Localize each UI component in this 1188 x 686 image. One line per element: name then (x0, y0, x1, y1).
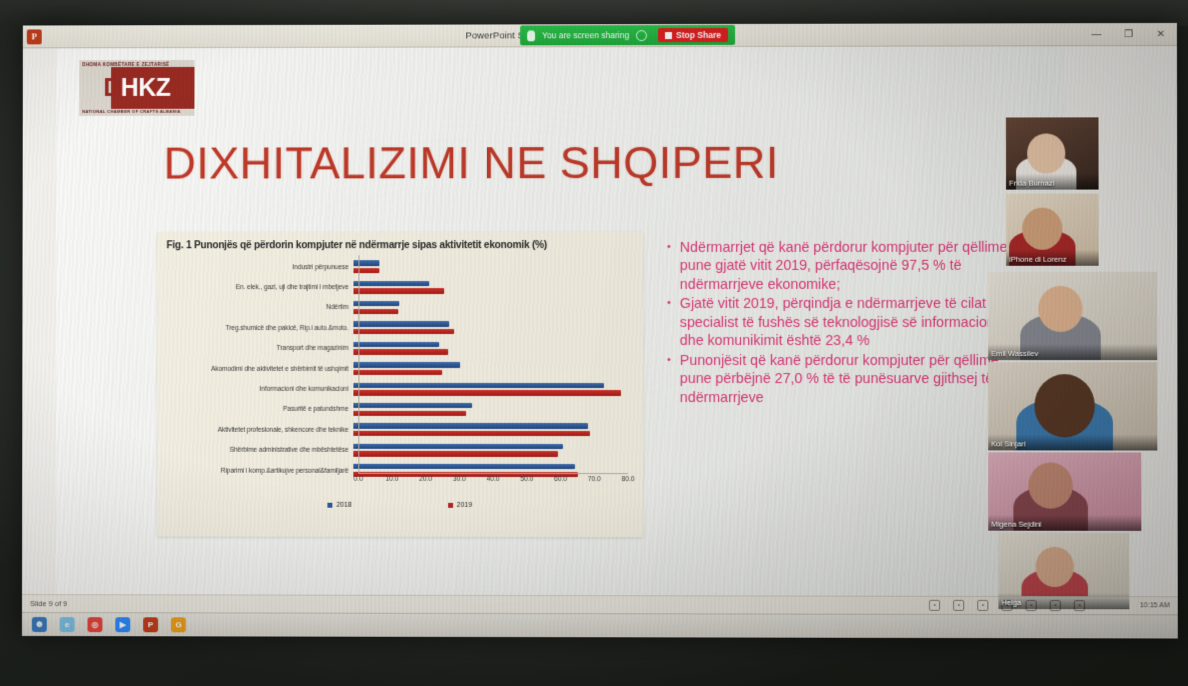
stop-share-button[interactable]: Stop Share (658, 28, 728, 42)
chart-category-label: En. elek., gazi, uji dhe trajtimi i mbet… (166, 284, 353, 291)
chart-bar-2019 (353, 349, 447, 354)
legend-item: 2019 (448, 502, 473, 509)
logo-letter-d: D (103, 74, 120, 102)
stop-square-icon (665, 32, 672, 39)
chart-x-tick: 50.0 (520, 476, 533, 483)
chart-category-label: Riparimi i komp.&artikujve personal&fami… (166, 467, 353, 474)
chart-bar-group (353, 381, 628, 398)
chart-bar-2018 (353, 281, 428, 286)
chart-x-tick: 10.0 (385, 476, 398, 483)
chart-bar-group (353, 279, 628, 296)
windows-taskbar: ☸e◎▶PG (22, 612, 1178, 638)
powerpoint-icon: P (27, 29, 42, 44)
participant-name: Helga (1001, 598, 1021, 607)
participant-name: Kol Sinjari (991, 439, 1025, 448)
legend-item: 2018 (327, 502, 352, 509)
chart-bar-2019 (353, 329, 454, 334)
bullet-dot-icon: • (667, 239, 671, 294)
slide-bullet: •Gjatë vitit 2019, përqindja e ndërmarrj… (667, 295, 1028, 351)
chart-category-label: Akomodimi dhe aktivitetet e shërbimit të… (166, 366, 353, 373)
chart-category-label: Pasuritë e patundshme (166, 406, 353, 413)
chart-bar-2019 (353, 431, 590, 437)
chart-row: Informacioni dhe komunikacioni (166, 379, 628, 400)
bullet-dot-icon: • (667, 295, 671, 350)
participant-head (1028, 462, 1072, 508)
participant-head (1036, 547, 1074, 587)
chart-category-label: Treg.shumicë dhe pakicë, Rip.i auto.&mot… (166, 325, 353, 332)
chart-bar-2019 (353, 288, 444, 293)
participant-head (1022, 208, 1062, 250)
chart-row: Shërbime administrative dhe mbështetëse (166, 440, 628, 461)
chart-bar-2018 (353, 260, 379, 265)
logo-letters-hkz: HKZ (121, 73, 171, 101)
zoom-participant-strip: Frida BurnaziiPhone di LorenzEmil Wassil… (976, 23, 1178, 639)
internet-explorer-icon: e (60, 617, 75, 632)
zoom-participant-tile[interactable]: Emil Wassilev (988, 272, 1157, 360)
zoom-participant-tile[interactable]: iPhone di Lorenz (1006, 194, 1099, 266)
chart-bar-group (353, 259, 628, 276)
chart-row: Treg.shumicë dhe pakicë, Rip.i auto.&mot… (166, 318, 628, 338)
chart-category-label: Transport dhe magazinim (166, 345, 353, 352)
chart-row: Industri përpunuese (166, 257, 628, 278)
legend-swatch (327, 503, 332, 508)
chart-x-tick: 40.0 (486, 476, 499, 483)
participant-name: Frida Burnazi (1009, 179, 1054, 188)
participant-head (1038, 286, 1082, 332)
chart-bar-2019 (353, 370, 442, 375)
microphone-icon (527, 30, 535, 41)
zoom-participant-tile[interactable]: Migena Sejdini (988, 452, 1141, 531)
chart-category-label: Shërbime administrative dhe mbështetëse (166, 447, 353, 454)
slide-bullet-list: •Ndërmarrjet që kanë përdorur kompjuter … (667, 239, 1028, 409)
chart-bar-2019 (353, 268, 379, 273)
chart-value-axis (358, 255, 359, 474)
taskbar-gamma-icon[interactable]: G (166, 614, 191, 635)
chart-bar-group (353, 299, 628, 316)
participant-head (1034, 374, 1094, 437)
dhkz-logo: DHOMA KOMBËTARE E ZEJTARISË DHKZ NATIONA… (79, 60, 194, 116)
chart-bar-group (353, 361, 628, 378)
chart-title: Fig. 1 Punonjës që përdorin kompjuter në… (166, 240, 634, 251)
participant-name: Migena Sejdini (991, 520, 1041, 529)
chart-plot-area: Industri përpunueseEn. elek., gazi, uji … (166, 255, 634, 500)
chart-bar-2018 (353, 444, 562, 450)
screen-sharing-banner: You are screen sharing Stop Share (520, 25, 735, 45)
chart-panel: Fig. 1 Punonjës që përdorin kompjuter në… (157, 232, 643, 537)
chart-bar-2018 (353, 342, 439, 347)
chart-bar-2018 (353, 423, 588, 429)
chart-rows: Industri përpunueseEn. elek., gazi, uji … (166, 257, 628, 481)
chart-bar-group (353, 340, 628, 357)
chart-bar-2018 (353, 321, 449, 326)
chart-legend: 20182019 (166, 502, 634, 510)
chart-bar-group (353, 442, 628, 459)
chart-bar-2018 (353, 464, 574, 470)
participant-head (1027, 133, 1065, 173)
next-icon[interactable]: ▪ (977, 600, 988, 611)
chart-bar-2019 (353, 390, 621, 396)
chart-category-label: Informacioni dhe komunikacioni (166, 386, 353, 393)
chart-row: Aktivitetet profesionale, shkencore dhe … (166, 420, 628, 441)
chart-x-tick: 30.0 (453, 476, 466, 483)
zoom-participant-tile[interactable]: Helga (998, 533, 1129, 610)
chart-row: Transport dhe magazinim (166, 339, 628, 359)
chart-row: En. elek., gazi, uji dhe trajtimi i mbet… (166, 277, 628, 297)
chart-bar-2018 (353, 301, 399, 306)
chart-bar-group (353, 422, 628, 439)
chrome-icon: ◎ (88, 617, 103, 632)
chart-x-tick: 0.0 (354, 476, 363, 483)
chart-x-tick: 20.0 (419, 476, 432, 483)
powerpoint-icon: P (143, 617, 158, 632)
chart-row: Akomodimi dhe aktivitetet e shërbimit të… (166, 359, 628, 379)
sharing-status-text: You are screen sharing (542, 30, 629, 40)
zoom-participant-tile[interactable]: Frida Burnazi (1006, 117, 1099, 189)
chart-category-label: Ndërtim (166, 305, 353, 312)
chart-row: Pasuritë e patundshme (166, 400, 628, 421)
pause-share-icon[interactable] (636, 30, 647, 41)
chart-category-label: Aktivitetet profesionale, shkencore dhe … (166, 427, 353, 434)
ceiling-strip (0, 0, 1188, 26)
chart-bar-2019 (353, 410, 466, 415)
logo-wordmark: DHKZ (79, 67, 194, 109)
chart-bar-2018 (353, 382, 604, 387)
legend-label: 2019 (457, 502, 473, 509)
taskbar-chrome-icon[interactable]: ◎ (83, 614, 108, 635)
participant-name: Emil Wassilev (991, 349, 1038, 358)
participant-name: iPhone di Lorenz (1009, 255, 1066, 264)
gamma-icon: G (171, 617, 186, 632)
logo-bottom-line: NATIONAL CHAMBER OF CRAFTS ALBANIA (79, 109, 194, 116)
bullet-dot-icon: • (667, 352, 671, 407)
zoom-icon: ▶ (115, 617, 130, 632)
slide-bullet: •Ndërmarrjet që kanë përdorur kompjuter … (667, 239, 1028, 295)
chart-bar-2019 (353, 451, 557, 457)
chart-bar-group (353, 401, 628, 418)
taskbar-powerpoint-icon[interactable]: P (138, 614, 163, 635)
taskbar-zoom-icon[interactable]: ▶ (110, 614, 135, 635)
chart-bar-group (353, 320, 628, 337)
taskbar-internet-explorer-icon[interactable]: e (55, 614, 80, 635)
chart-category-label: Industri përpunuese (166, 264, 353, 271)
slide-bullet: •Punonjësit që kanë përdorur kompjuter p… (667, 352, 1028, 408)
chart-bar-2018 (353, 362, 459, 367)
slide-title: DIXHITALIZIMI NE SHQIPERI (164, 137, 779, 190)
legend-label: 2018 (336, 502, 352, 509)
chart-x-tick: 60.0 (554, 476, 567, 483)
network-icon: ☸ (32, 617, 47, 632)
zoom-participant-tile[interactable]: Kol Sinjari (988, 362, 1157, 450)
previous-icon[interactable]: ▪ (929, 600, 940, 611)
presentation-slide: DHOMA KOMBËTARE E ZEJTARISË DHKZ NATIONA… (56, 46, 1066, 621)
chart-bar-2019 (353, 309, 398, 314)
chart-bar-2018 (353, 403, 471, 408)
chart-x-tick: 70.0 (588, 476, 601, 483)
projected-screen: P PowerPoint Slide Show - [Prezantimi1.p… (22, 23, 1178, 639)
chart-row: Ndërtim (166, 298, 628, 318)
chart-tick-labels: 0.010.020.030.040.050.060.070.080.0 (358, 476, 628, 490)
slide-counter: Slide 9 of 9 (30, 599, 67, 608)
system-clock: 10:15 AM (1140, 602, 1170, 610)
pen-icon[interactable]: ▪ (953, 600, 964, 611)
taskbar-network-icon[interactable]: ☸ (27, 614, 52, 635)
chart-x-tick: 80.0 (621, 476, 634, 483)
stop-share-label: Stop Share (676, 30, 721, 40)
legend-swatch (448, 503, 453, 508)
